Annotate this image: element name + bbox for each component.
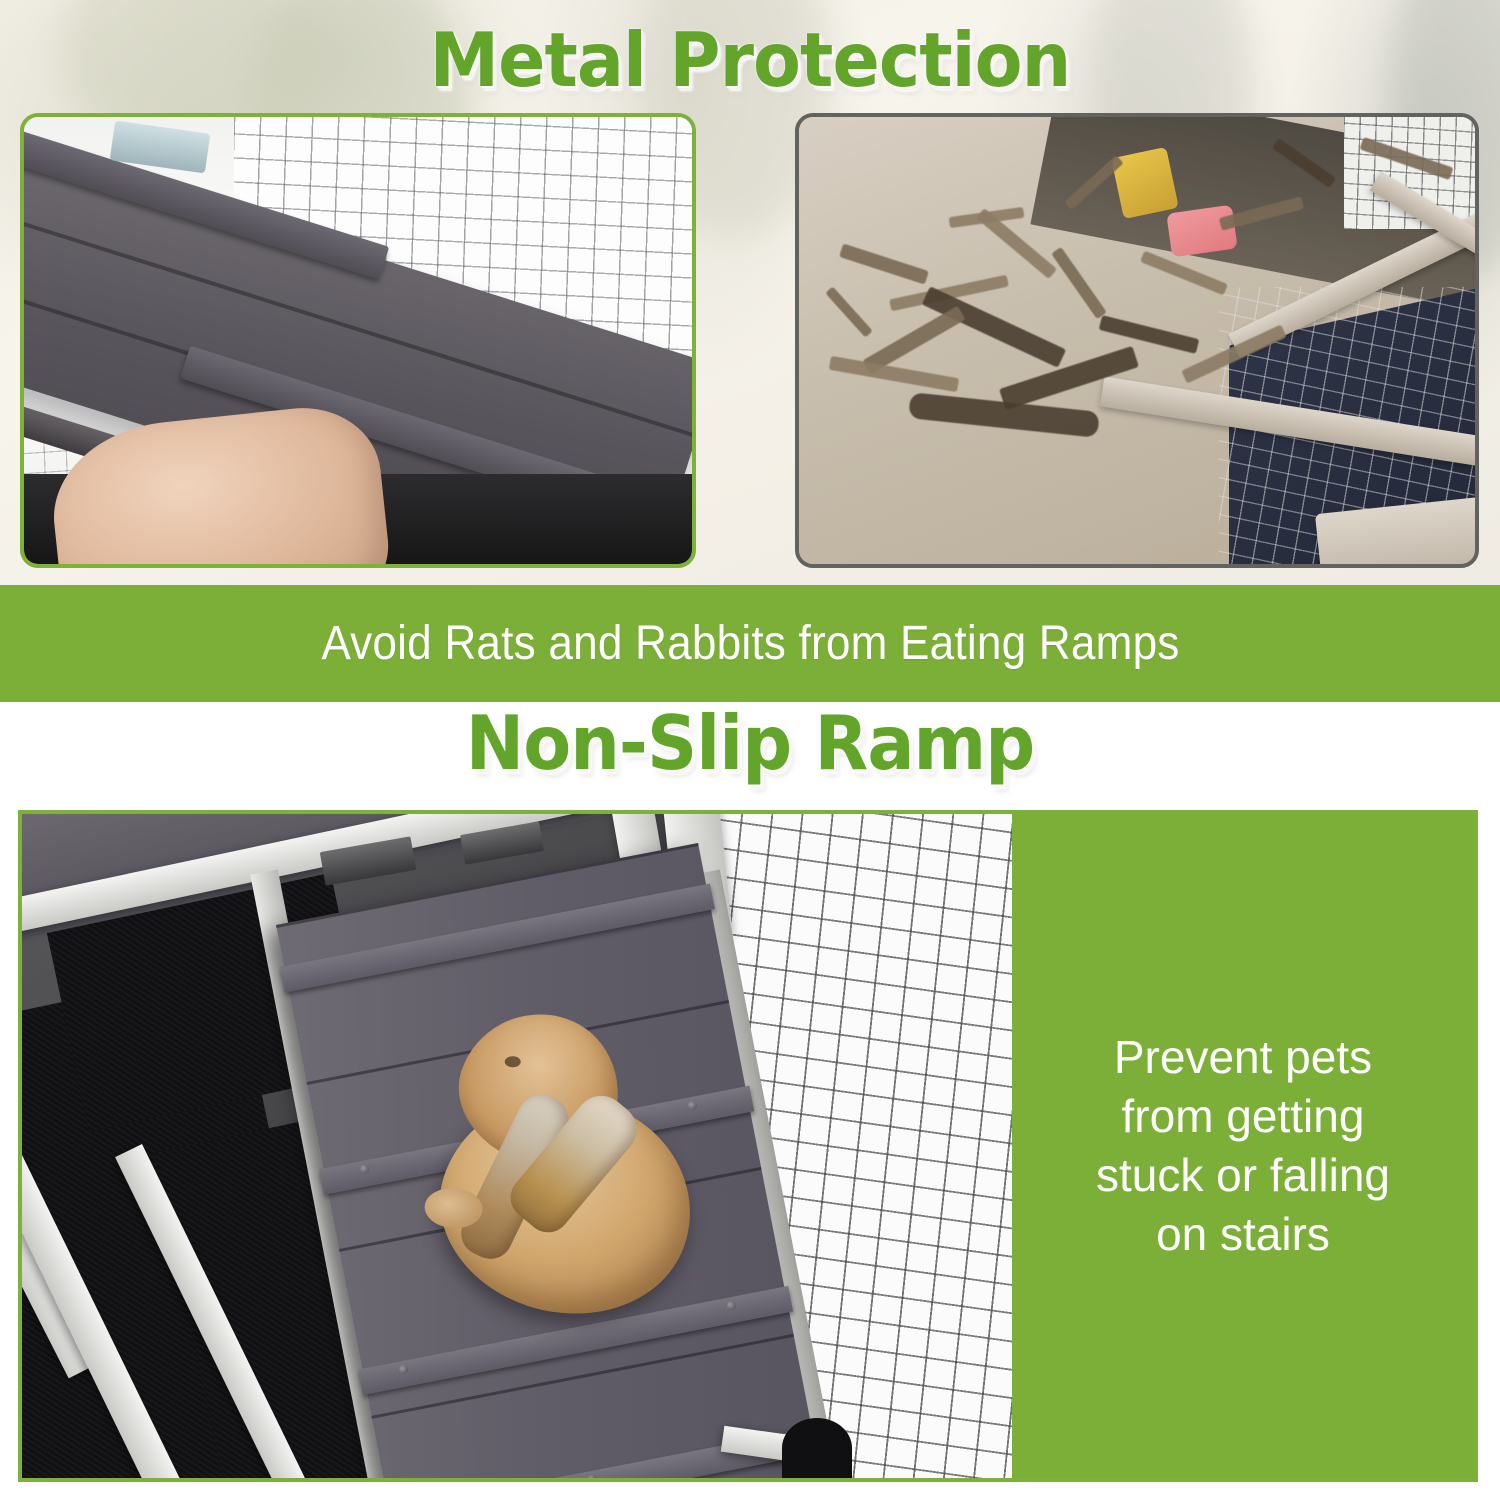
hutch-wheel-shadow xyxy=(782,1418,852,1478)
pink-debris xyxy=(1166,205,1237,258)
photo-metal-edged-ramp-in-hand xyxy=(20,113,696,568)
caption-pane: Prevent pets from getting stuck or falli… xyxy=(1012,814,1474,1478)
photo-chewed-wooden-ramp-damage xyxy=(795,113,1479,568)
caption-text: Prevent pets from getting stuck or falli… xyxy=(1080,1028,1406,1264)
top-section: Metal Protection xyxy=(0,0,1500,585)
bottom-section: Prevent pets from getting stuck or falli… xyxy=(18,810,1478,1482)
caption-line: stuck or falling xyxy=(1096,1146,1390,1205)
mid-title-area: Non-Slip Ramp xyxy=(0,702,1500,807)
caption-line: from getting xyxy=(1096,1087,1390,1146)
photo-rabbit-on-non-slip-ramp xyxy=(22,814,1012,1478)
rabbit-eye xyxy=(505,1056,521,1067)
green-banner-avoid-eating-ramps: Avoid Rats and Rabbits from Eating Ramps xyxy=(0,585,1500,702)
page-title-non-slip-ramp: Non-Slip Ramp xyxy=(53,699,1448,787)
caption-line: on stairs xyxy=(1096,1205,1390,1264)
page-title-metal-protection: Metal Protection xyxy=(53,16,1448,104)
caption-line: Prevent pets xyxy=(1096,1028,1390,1087)
banner-text: Avoid Rats and Rabbits from Eating Ramps xyxy=(321,616,1179,671)
